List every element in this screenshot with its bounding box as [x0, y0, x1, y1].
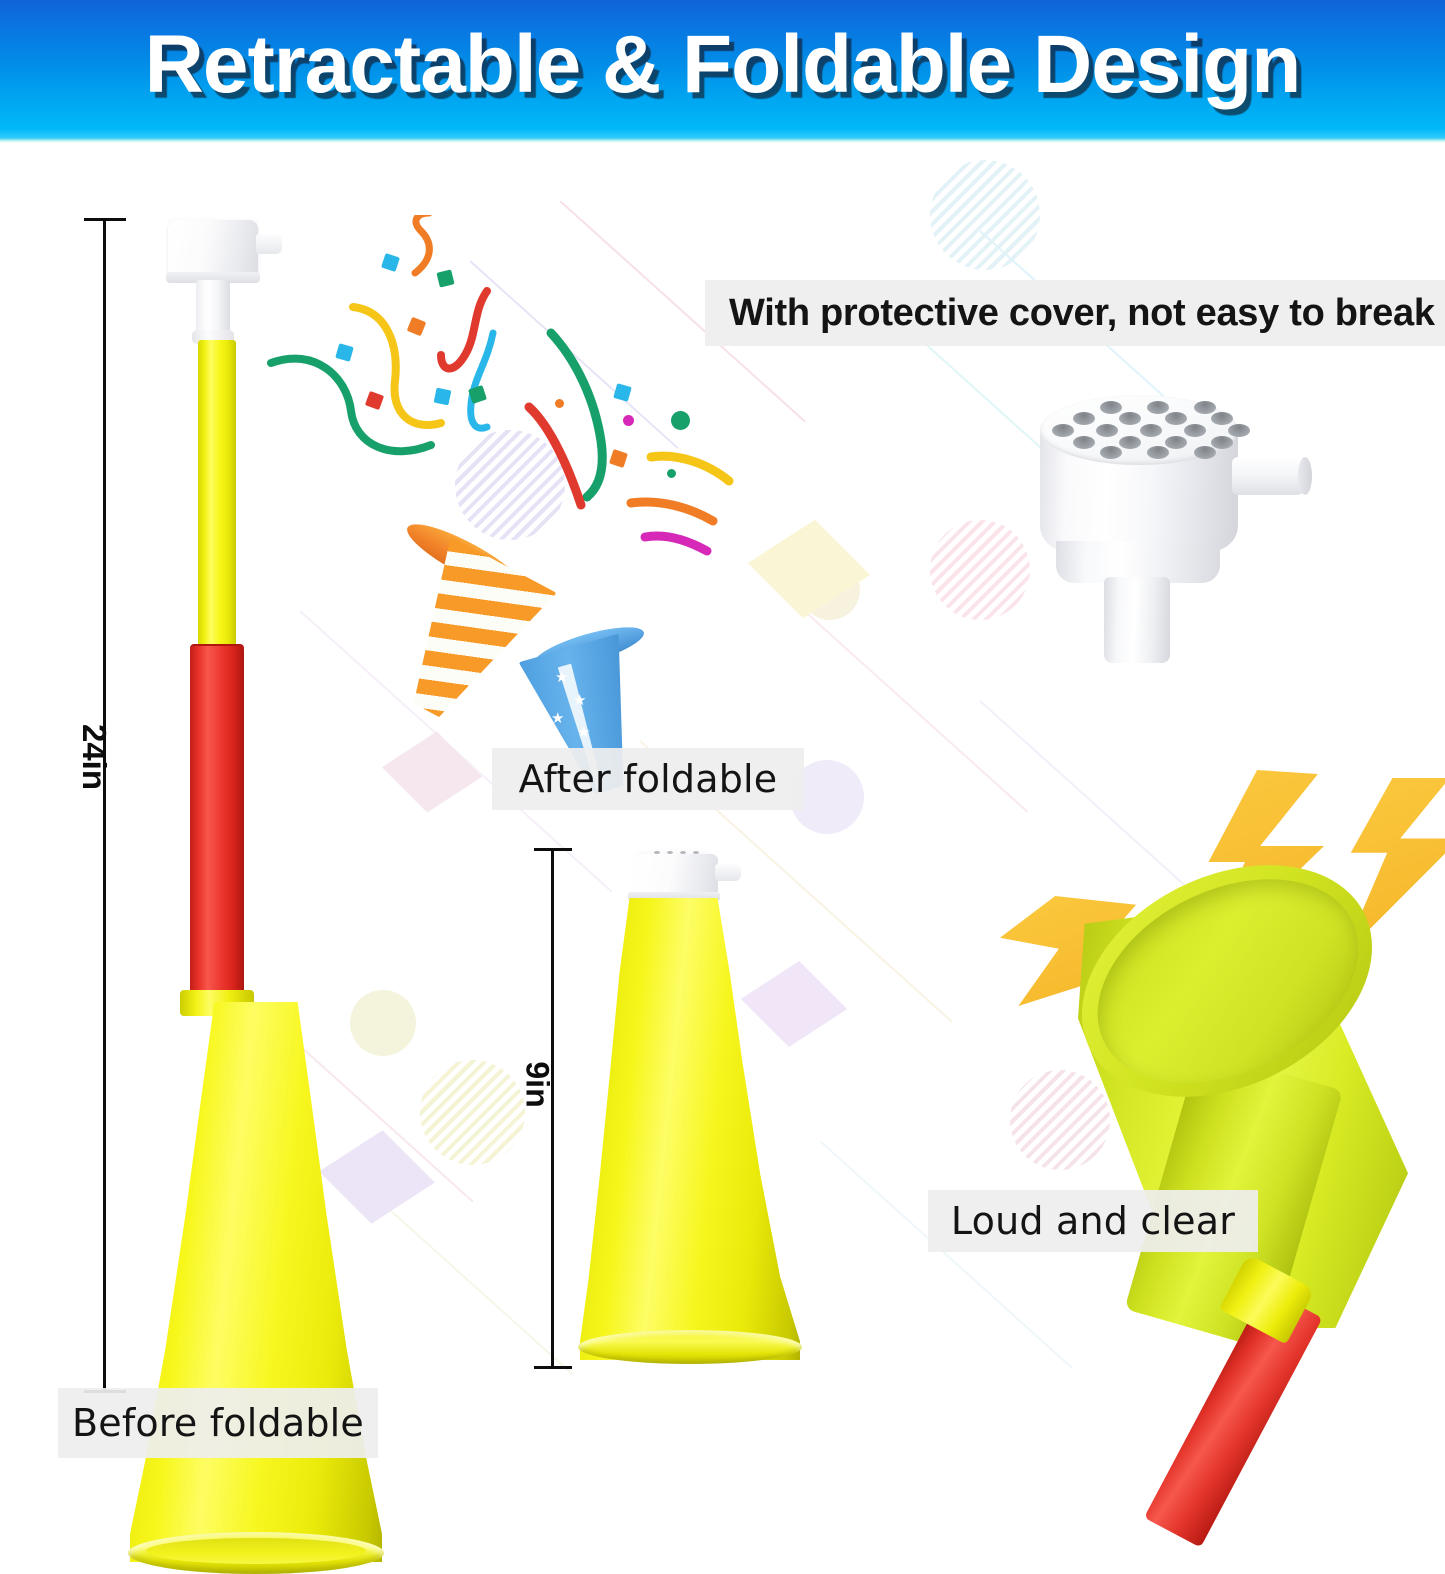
- cover-perforation-hole: [1096, 424, 1118, 437]
- label-protective-cover: With protective cover, not easy to break: [705, 280, 1445, 346]
- cover-perforation-hole: [1052, 424, 1074, 437]
- confetti-streamer: [271, 359, 431, 452]
- cover-perforation-hole: [1119, 436, 1141, 449]
- cover-stem: [1104, 577, 1170, 663]
- confetti-illustration: ★★★★★★: [255, 215, 775, 645]
- cover-perforation-hole: [1147, 446, 1169, 459]
- cover-perforated-face: [1040, 395, 1238, 465]
- page-title: Retractable & Foldable Design: [0, 20, 1445, 110]
- confetti-dot: [623, 415, 634, 426]
- cover-perforation-hole: [1184, 424, 1206, 437]
- protective-cap-body: [168, 220, 258, 276]
- header-banner: Retractable & Foldable Design: [0, 0, 1445, 140]
- cover-perforation-hole: [1228, 424, 1250, 437]
- cover-perforation-hole: [1211, 412, 1233, 425]
- label-loud-and-clear: Loud and clear: [928, 1190, 1258, 1252]
- protective-cover-closeup: [1020, 395, 1310, 665]
- confetti-streamers: [255, 215, 775, 645]
- popper-star-icon: ★: [551, 711, 564, 726]
- confetti-streamer: [441, 291, 487, 369]
- dimension-bottom-cap: [534, 1366, 572, 1369]
- confetti-streamer: [471, 333, 493, 428]
- cover-perforation-hole: [1165, 436, 1187, 449]
- horn-red-tube-corner: [1232, 1268, 1445, 1468]
- cover-perforation-hole: [1100, 446, 1122, 459]
- confetti-streamer: [353, 307, 441, 425]
- confetti-dot: [667, 469, 676, 478]
- confetti-dot: [671, 411, 690, 430]
- cover-perforation-hole: [1211, 436, 1233, 449]
- label-after-foldable: After foldable: [492, 748, 804, 810]
- folded-cap-side-tab: [715, 864, 741, 881]
- cover-perforation-hole: [1073, 436, 1095, 449]
- decor-striped-circle: [930, 160, 1040, 270]
- vuvuzela-folded: [580, 838, 800, 1358]
- confetti-dot: [555, 399, 564, 408]
- popper-star-icon: ★: [577, 725, 590, 740]
- decor-striped-circle: [930, 520, 1030, 620]
- cover-perforation-hole: [1140, 424, 1162, 437]
- dimension-label-24in: 24in: [75, 719, 113, 795]
- confetti-streamer: [415, 215, 429, 273]
- confetti-streamer: [529, 407, 581, 505]
- cover-perforation-hole: [1194, 446, 1216, 459]
- yellow-bell: [130, 1002, 382, 1562]
- cover-perforation-hole: [1119, 412, 1141, 425]
- dimension-label-9in: 9in: [519, 1050, 556, 1120]
- cover-perforation-hole: [1165, 412, 1187, 425]
- cover-side-tab: [1232, 457, 1308, 495]
- cover-perforation-hole: [1073, 412, 1095, 425]
- dimension-vertical-line: [103, 218, 106, 1393]
- decor-striped-circle: [420, 1060, 525, 1165]
- confetti-streamer: [551, 333, 602, 497]
- yellow-upper-tube: [198, 340, 236, 650]
- bell-rim-inner: [146, 1538, 366, 1564]
- red-telescoping-tube: [190, 646, 244, 996]
- popper-star-icon: ★: [573, 693, 586, 708]
- cover-side-tab-end: [1298, 457, 1312, 495]
- confetti-streamer: [631, 502, 713, 521]
- folded-bell-rim: [578, 1330, 802, 1364]
- decor-diamond: [382, 732, 482, 813]
- folded-yellow-bell: [580, 898, 800, 1360]
- label-before-foldable: Before foldable: [58, 1388, 378, 1458]
- confetti-streamer: [651, 456, 729, 481]
- confetti-square: [434, 388, 452, 406]
- cover-perforation-hole: [1100, 401, 1122, 414]
- product-infographic: { "banner": { "title": "Retractable & Fo…: [0, 0, 1445, 1445]
- cover-perforation-hole: [1147, 401, 1169, 414]
- confetti-streamer: [645, 536, 707, 551]
- popper-star-icon: ★: [555, 670, 568, 685]
- cover-perforation-hole: [1194, 401, 1216, 414]
